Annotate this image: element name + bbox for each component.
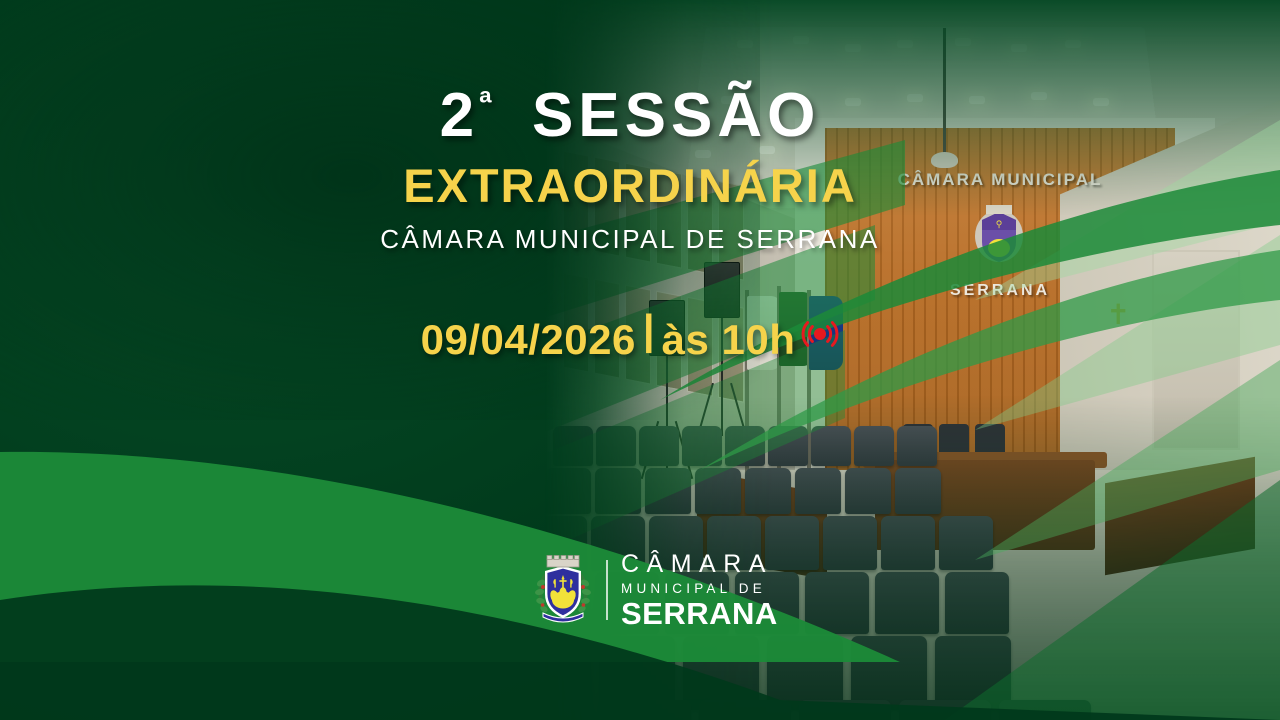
session-date: 09/04/2026 bbox=[421, 316, 636, 363]
session-ordinal: ª bbox=[479, 84, 492, 122]
session-time: às 10h bbox=[662, 316, 796, 363]
session-title-line1: 2ª SESSÃO bbox=[0, 80, 1270, 151]
session-word: SESSÃO bbox=[532, 81, 820, 150]
institution-subtitle: CÂMARA MUNICIPAL DE SERRANA bbox=[0, 224, 1270, 255]
session-number: 2 bbox=[440, 81, 479, 150]
date-time-separator: | bbox=[636, 306, 662, 353]
logo-divider bbox=[606, 560, 608, 620]
live-broadcast-icon bbox=[801, 318, 839, 355]
serrana-coat-of-arms-icon bbox=[531, 553, 595, 627]
logo-line-serrana: SERRANA bbox=[621, 598, 778, 629]
logo-line-municipal-de: MUNICIPAL DE bbox=[621, 582, 778, 596]
logo-line-camara: CÂMARA bbox=[621, 552, 778, 577]
camara-serrana-logo: CÂMARA MUNICIPAL DE SERRANA bbox=[531, 552, 778, 629]
date-time-bar: 09/04/2026|às 10h bbox=[0, 306, 1270, 364]
session-title-line2: EXTRAORDINÁRIA bbox=[0, 158, 1270, 213]
session-announcement-banner: ✝ CÂMARA MUNICIPAL ⚲ SERRANA bbox=[0, 0, 1280, 720]
